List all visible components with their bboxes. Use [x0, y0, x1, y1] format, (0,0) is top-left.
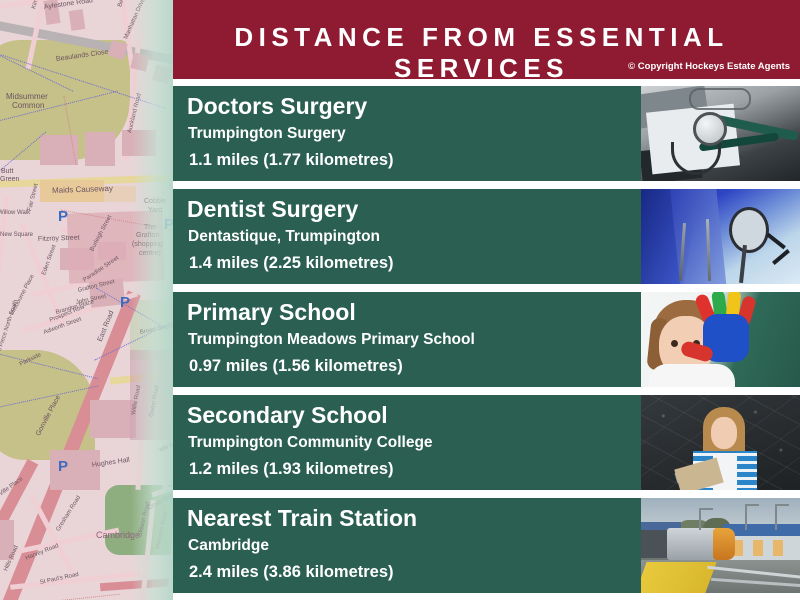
service-distance: 1.4 miles (2.25 kilometres) [187, 250, 637, 276]
service-distance: 1.1 miles (1.77 kilometres) [187, 147, 637, 173]
service-row-dentist-surgery[interactable]: Dentist Surgery Dentastique, Trumpington… [173, 189, 800, 284]
copyright-notice: © Copyright Hockeys Estate Agents [628, 61, 790, 72]
map-label: Willow Walk [0, 210, 30, 216]
stethoscope-on-laptop-photo [641, 86, 800, 181]
dental-instruments-photo [641, 189, 800, 284]
student-at-chalkboard-photo [641, 395, 800, 490]
distance-from-services-poster: Aylestone RoadKimberley RoadBelvoir Road… [0, 0, 800, 600]
service-row-nearest-train-station[interactable]: Nearest Train Station Cambridge 2.4 mile… [173, 498, 800, 593]
service-title: Primary School [187, 297, 637, 327]
service-title: Dentist Surgery [187, 194, 637, 224]
map-parking-icon: P [58, 208, 68, 225]
child-with-painted-hands-photo [641, 292, 800, 387]
service-text: Primary School Trumpington Meadows Prima… [187, 297, 637, 379]
service-distance: 2.4 miles (3.86 kilometres) [187, 559, 637, 585]
service-row-secondary-school[interactable]: Secondary School Trumpington Community C… [173, 395, 800, 490]
service-place: Trumpington Meadows Primary School [187, 327, 637, 353]
service-distance: 0.97 miles (1.56 kilometres) [187, 353, 637, 379]
service-row-doctors-surgery[interactable]: Doctors Surgery Trumpington Surgery 1.1 … [173, 86, 800, 181]
map-parking-icon: P [120, 294, 130, 311]
page-title: DISTANCE FROM ESSENTIAL SERVICES [173, 22, 790, 84]
map-fade-overlay [131, 0, 173, 600]
map-label: Butt [1, 168, 13, 175]
header-banner: DISTANCE FROM ESSENTIAL SERVICES © Copyr… [173, 0, 800, 79]
location-map[interactable]: Aylestone RoadKimberley RoadBelvoir Road… [0, 0, 173, 600]
map-label: New Square [0, 232, 33, 238]
map-label: Fitzroy Street [38, 235, 80, 243]
service-title: Doctors Surgery [187, 91, 637, 121]
service-row-primary-school[interactable]: Primary School Trumpington Meadows Prima… [173, 292, 800, 387]
train-at-station-platform-photo [641, 498, 800, 593]
service-text: Dentist Surgery Dentastique, Trumpington… [187, 194, 637, 276]
service-place: Trumpington Community College [187, 430, 637, 456]
map-parking-icon: P [58, 458, 68, 475]
service-place: Trumpington Surgery [187, 121, 637, 147]
service-title: Nearest Train Station [187, 503, 637, 533]
service-text: Secondary School Trumpington Community C… [187, 400, 637, 482]
services-list: Doctors Surgery Trumpington Surgery 1.1 … [173, 86, 800, 600]
map-label: Common [12, 101, 44, 110]
service-text: Nearest Train Station Cambridge 2.4 mile… [187, 503, 637, 585]
map-label: Midsummer [6, 92, 48, 101]
service-title: Secondary School [187, 400, 637, 430]
service-distance: 1.2 miles (1.93 kilometres) [187, 456, 637, 482]
service-place: Dentastique, Trumpington [187, 224, 637, 250]
service-text: Doctors Surgery Trumpington Surgery 1.1 … [187, 91, 637, 173]
map-label: Green [0, 176, 19, 183]
service-place: Cambridge [187, 533, 637, 559]
